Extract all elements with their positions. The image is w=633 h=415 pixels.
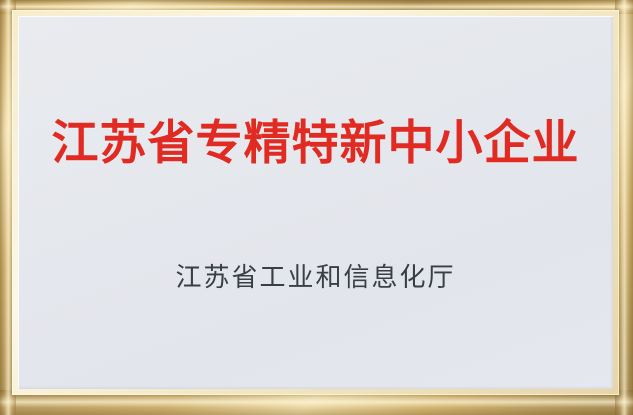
plaque-title: 江苏省专精特新中小企业 — [18, 119, 613, 168]
plaque-issuer-subtitle: 江苏省工业和信息化厅 — [18, 264, 613, 294]
award-plaque: 江苏省专精特新中小企业 江苏省工业和信息化厅 — [0, 0, 633, 415]
plaque-face: 江苏省专精特新中小企业 江苏省工业和信息化厅 — [18, 16, 613, 389]
